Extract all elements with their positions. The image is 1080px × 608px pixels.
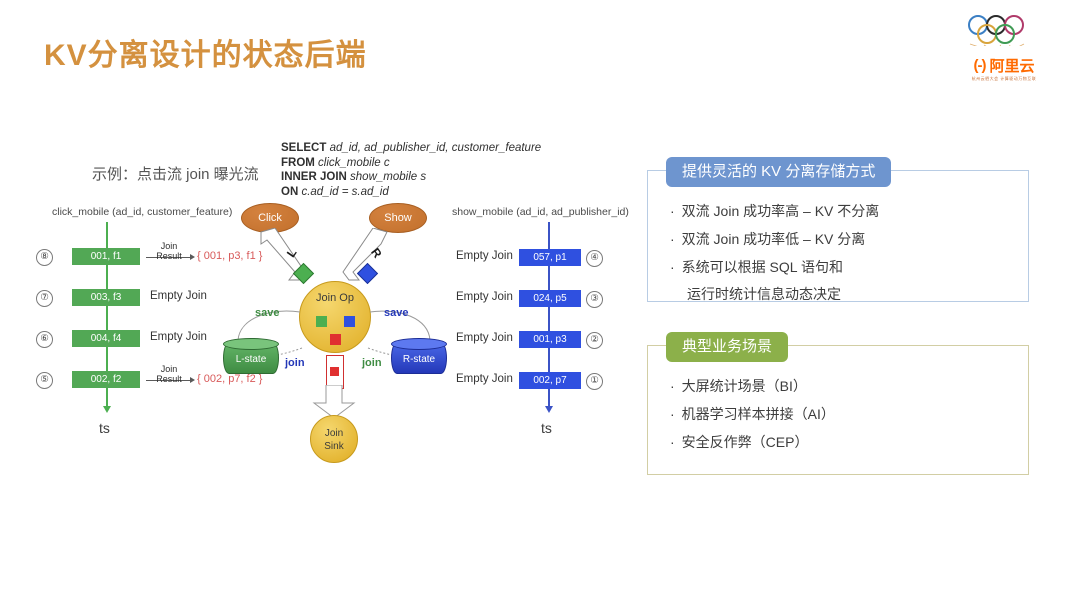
sink-down-arrow bbox=[310, 385, 358, 419]
output-record-box bbox=[326, 355, 344, 389]
r-state-store: R-state bbox=[391, 342, 447, 374]
right-ts-label: ts bbox=[541, 420, 552, 436]
join-sink-node: Join Sink bbox=[310, 415, 358, 463]
right-event-status: Empty Join bbox=[456, 291, 513, 303]
alibaba-cloud-logo: (-) 阿里云 bbox=[954, 54, 1054, 76]
panel-kv-storage: 提供灵活的 KV 分离存储方式 ·双流 Join 成功率高 – KV 不分离 ·… bbox=[647, 170, 1029, 302]
left-event-number: ⑤ bbox=[36, 372, 53, 389]
sql-query-block: SELECT ad_id, ad_publisher_id, customer_… bbox=[281, 141, 541, 199]
left-join-result-value: { 001, p3, f1 } bbox=[197, 250, 262, 262]
right-event-status: Empty Join bbox=[456, 373, 513, 385]
right-event-box: 057, p1 bbox=[519, 249, 581, 266]
panel-business-scenarios: 典型业务场景 ·大屏统计场景（BI） ·机器学习样本拼接（AI） ·安全反作弊（… bbox=[647, 345, 1029, 475]
right-event-number: ① bbox=[586, 373, 603, 390]
list-item: ·双流 Join 成功率低 – KV 分离 bbox=[670, 225, 1018, 253]
left-event-box: 004, f4 bbox=[72, 330, 140, 347]
panel-kv-storage-header: 提供灵活的 KV 分离存储方式 bbox=[666, 157, 891, 187]
right-event-number: ② bbox=[586, 332, 603, 349]
list-item: ·双流 Join 成功率高 – KV 不分离 bbox=[670, 197, 1018, 225]
list-item-continuation: 运行时统计信息动态决定 bbox=[670, 281, 1018, 307]
panel-business-scenarios-header: 典型业务场景 bbox=[666, 332, 788, 362]
list-item: ·安全反作弊（CEP） bbox=[670, 428, 1018, 456]
right-event-box: 001, p3 bbox=[519, 331, 581, 348]
left-event-box: 003, f3 bbox=[72, 289, 140, 306]
right-event-box: 024, p5 bbox=[519, 290, 581, 307]
sql-line-join: INNER JOIN show_mobile s bbox=[281, 170, 541, 185]
right-event-number: ③ bbox=[586, 291, 603, 308]
left-event-box: 002, f2 bbox=[72, 371, 140, 388]
left-join-result-label: Join Result bbox=[147, 365, 191, 384]
l-state-store: L-state bbox=[223, 342, 279, 374]
right-timeline-arrowhead bbox=[545, 406, 553, 413]
left-event-number: ⑧ bbox=[36, 249, 53, 266]
join-sink-line1: Join bbox=[311, 427, 357, 440]
list-item: ·机器学习样本拼接（AI） bbox=[670, 400, 1018, 428]
join-left-label: join bbox=[285, 357, 305, 369]
left-event-box: 001, f1 bbox=[72, 248, 140, 265]
panel-business-scenarios-bullets: ·大屏统计场景（BI） ·机器学习样本拼接（AI） ·安全反作弊（CEP） bbox=[670, 372, 1018, 456]
right-stream-header: show_mobile (ad_id, ad_publisher_id) bbox=[452, 206, 629, 218]
alibaba-cloud-text: 阿里云 bbox=[989, 55, 1034, 76]
save-right-label: save bbox=[384, 307, 408, 319]
l-state-label: L-state bbox=[236, 354, 267, 365]
left-event-number: ⑥ bbox=[36, 331, 53, 348]
sql-line-from: FROM click_mobile c bbox=[281, 156, 541, 171]
olympic-rings-icon bbox=[964, 14, 1044, 46]
join-diagram: 示例：点击流 join 曝光流 SELECT ad_id, ad_publish… bbox=[0, 0, 640, 608]
left-event-number: ⑦ bbox=[36, 290, 53, 307]
right-event-box: 002, p7 bbox=[519, 372, 581, 389]
sql-line-select: SELECT ad_id, ad_publisher_id, customer_… bbox=[281, 141, 541, 156]
left-stream-header: click_mobile (ad_id, customer_feature) bbox=[52, 206, 232, 218]
list-item: ·大屏统计场景（BI） bbox=[670, 372, 1018, 400]
l-state-cylinder-top bbox=[223, 338, 279, 350]
output-record-marker bbox=[330, 367, 339, 376]
panel-kv-storage-bullets: ·双流 Join 成功率高 – KV 不分离 ·双流 Join 成功率低 – K… bbox=[670, 197, 1018, 307]
brand-logo-area: (-) 阿里云 杭州云栖大会 计算驱动万物互联 bbox=[948, 14, 1058, 90]
list-item: ·系统可以根据 SQL 语句和 bbox=[670, 253, 1018, 281]
left-event-status: Empty Join bbox=[150, 331, 207, 343]
left-join-result-label: Join Result bbox=[147, 242, 191, 261]
join-sink-line2: Sink bbox=[311, 440, 357, 453]
r-state-label: R-state bbox=[403, 354, 435, 365]
save-left-label: save bbox=[255, 307, 279, 319]
join-right-label: join bbox=[362, 357, 382, 369]
left-timeline-arrowhead bbox=[103, 406, 111, 413]
left-event-status: Empty Join bbox=[150, 290, 207, 302]
left-ts-label: ts bbox=[99, 420, 110, 436]
alibaba-cloud-mark: (-) bbox=[973, 57, 985, 74]
example-label: 示例：点击流 join 曝光流 bbox=[92, 163, 259, 184]
right-event-number: ④ bbox=[586, 250, 603, 267]
sql-line-on: ON c.ad_id = s.ad_id bbox=[281, 185, 541, 200]
right-event-status: Empty Join bbox=[456, 250, 513, 262]
brand-tagline: 杭州云栖大会 计算驱动万物互联 bbox=[954, 76, 1054, 82]
right-event-status: Empty Join bbox=[456, 332, 513, 344]
r-state-cylinder-top bbox=[391, 338, 447, 350]
